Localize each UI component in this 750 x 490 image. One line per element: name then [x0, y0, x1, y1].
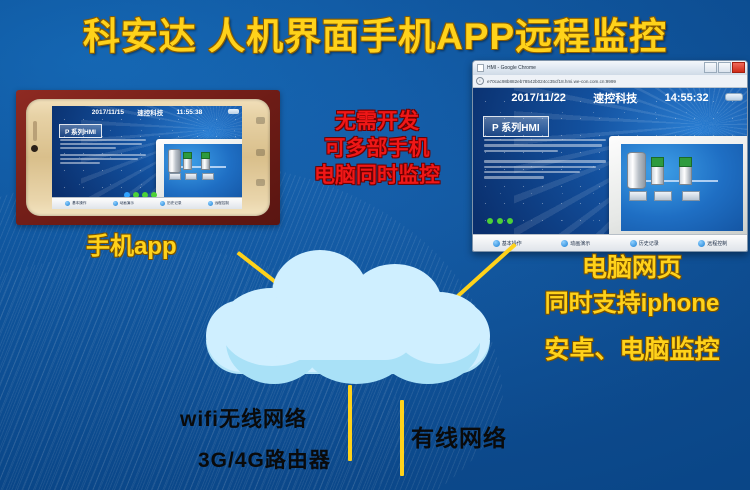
phone-hmi-panel-image: [156, 139, 242, 206]
chart-icon: [160, 201, 165, 206]
browser-nav-label-1: 动画演示: [570, 240, 590, 247]
network-cloud: [198, 248, 498, 380]
pump-head-icon-2: [201, 152, 210, 159]
browser-url-text[interactable]: e70cac98b882eb78542b024cc35cf18.hmi.we-c…: [487, 79, 744, 84]
pump-head-icon-4: [679, 157, 692, 167]
maximize-icon[interactable]: [718, 62, 731, 73]
phone-hmi-time: 11:55:38: [177, 109, 203, 116]
phone-camera-icon: [31, 145, 38, 152]
page-title: 科安达 人机界面手机APP远程监控: [0, 14, 750, 60]
phone-side-button-bottom: [256, 179, 265, 186]
page-icon: [477, 64, 484, 72]
browser-hmi-header: 2017/11/22 速控科技 14:55:32: [473, 88, 747, 108]
right-callout-line-2: 安卓、电脑监控: [514, 332, 750, 368]
phone-hmi-paragraph: [60, 137, 148, 166]
poster-canvas: 科安达 人机界面手机APP远程监控 2017/11/15 速控科技 11:55:…: [0, 0, 750, 490]
phone-device: 2017/11/15 速控科技 11:55:38 P 系列HMI: [26, 99, 270, 216]
phone-photo-card: 2017/11/15 速控科技 11:55:38 P 系列HMI: [16, 90, 280, 225]
red-callout-block: 无需开发 可多部手机 电脑同时监控: [292, 108, 462, 189]
phone-nav-item-2[interactable]: 历史记录: [160, 201, 181, 206]
pump-head-icon: [183, 152, 192, 159]
phone-side-button-mid: [256, 149, 265, 156]
browser-window[interactable]: HMI - Google Chrome i e70cac98b882eb7854…: [472, 60, 748, 252]
browser-tab[interactable]: HMI - Google Chrome: [477, 64, 536, 72]
browser-hmi-date: 2017/11/22: [511, 92, 565, 104]
phone-app-label: 手机app: [86, 226, 177, 261]
play-icon: [561, 240, 568, 247]
connector-line-wired: [400, 400, 404, 476]
browser-nav-item-0[interactable]: 基本操作: [493, 240, 522, 247]
red-callout-line-0: 无需开发: [292, 108, 462, 135]
minimize-icon[interactable]: [704, 62, 717, 73]
right-callout-line-1: 同时支持iphone: [514, 286, 750, 322]
phone-hmi-date: 2017/11/15: [92, 109, 124, 116]
phone-speaker: [33, 121, 37, 141]
wifi-icon: [208, 201, 213, 206]
close-icon[interactable]: [732, 62, 745, 73]
browser-nav-item-2[interactable]: 历史记录: [630, 240, 659, 247]
phone-hmi-section-title: P 系列HMI: [59, 124, 102, 138]
browser-hmi-time: 14:55:32: [665, 92, 709, 104]
browser-window-buttons[interactable]: [704, 62, 745, 73]
phone-nav-label-1: 动画演示: [120, 201, 134, 206]
wifi-network-label: wifi无线网络: [180, 403, 307, 433]
right-callout-line-0: 电脑网页: [514, 250, 750, 286]
phone-side-button-top: [256, 117, 265, 124]
browser-hmi-page: 2017/11/22 速控科技 14:55:32 P 系列HMI: [473, 88, 747, 251]
browser-content[interactable]: 2017/11/22 速控科技 14:55:32 P 系列HMI: [473, 88, 747, 251]
browser-hmi-section-title: P 系列HMI: [483, 116, 549, 137]
tank-icon: [168, 149, 181, 173]
browser-hmi-panel-image: [609, 136, 747, 239]
pump-head-icon-3: [651, 157, 664, 167]
red-callout-line-2: 电脑同时监控: [292, 162, 462, 189]
browser-hmi-paragraph: [484, 136, 608, 182]
phone-hmi-panel-screen: [164, 144, 242, 200]
phone-hmi-navbar[interactable]: 基本操作 动画演示 历史记录 远程控制: [52, 197, 242, 209]
phone-nav-item-3[interactable]: 远程控制: [208, 201, 229, 206]
phone-nav-label-2: 历史记录: [167, 201, 181, 206]
browser-nav-item-1[interactable]: 动画演示: [561, 240, 590, 247]
pump-icon-4: [679, 164, 692, 185]
browser-nav-label-2: 历史记录: [639, 240, 659, 247]
browser-nav-item-3[interactable]: 远程控制: [698, 240, 727, 247]
phone-screen[interactable]: 2017/11/15 速控科技 11:55:38 P 系列HMI: [52, 106, 242, 209]
phone-hmi-header: 2017/11/15 速控科技 11:55:38: [52, 106, 242, 118]
phone-app-label-text: 手机app: [86, 233, 177, 260]
play-icon: [113, 201, 118, 206]
browser-address-bar[interactable]: i e70cac98b882eb78542b024cc35cf18.hmi.we…: [473, 75, 747, 88]
browser-hmi-pill-button[interactable]: [725, 93, 743, 101]
pump-icon-3: [651, 164, 664, 185]
browser-tab-title: HMI - Google Chrome: [487, 65, 536, 71]
info-icon[interactable]: i: [476, 77, 484, 85]
phone-hmi-brand: 速控科技: [137, 107, 163, 117]
phone-hmi-page: 2017/11/15 速控科技 11:55:38 P 系列HMI: [52, 106, 242, 209]
chart-icon: [630, 240, 637, 247]
phone-nav-item-1[interactable]: 动画演示: [113, 201, 134, 206]
connector-line-wifi: [348, 385, 352, 461]
red-callout-line-1: 可多部手机: [292, 135, 462, 162]
browser-hmi-brand: 速控科技: [593, 90, 637, 106]
hand-icon: [65, 201, 70, 206]
wired-network-label: 有线网络: [411, 419, 507, 453]
phone-nav-label-0: 基本操作: [72, 201, 86, 206]
tank-icon-2: [627, 152, 646, 189]
hand-icon: [493, 240, 500, 247]
phone-hmi-pill-button[interactable]: [228, 109, 239, 114]
right-callout-block: 电脑网页 同时支持iphone 安卓、电脑监控: [514, 250, 750, 368]
phone-nav-item-0[interactable]: 基本操作: [65, 201, 86, 206]
browser-titlebar[interactable]: HMI - Google Chrome: [473, 61, 747, 75]
browser-nav-label-3: 远程控制: [707, 240, 727, 247]
browser-hmi-status-dots: [487, 218, 513, 224]
wifi-icon: [698, 240, 705, 247]
router-label: 3G/4G路由器: [198, 444, 331, 474]
phone-nav-label-3: 远程控制: [215, 201, 229, 206]
browser-hmi-panel-screen: [621, 144, 743, 231]
